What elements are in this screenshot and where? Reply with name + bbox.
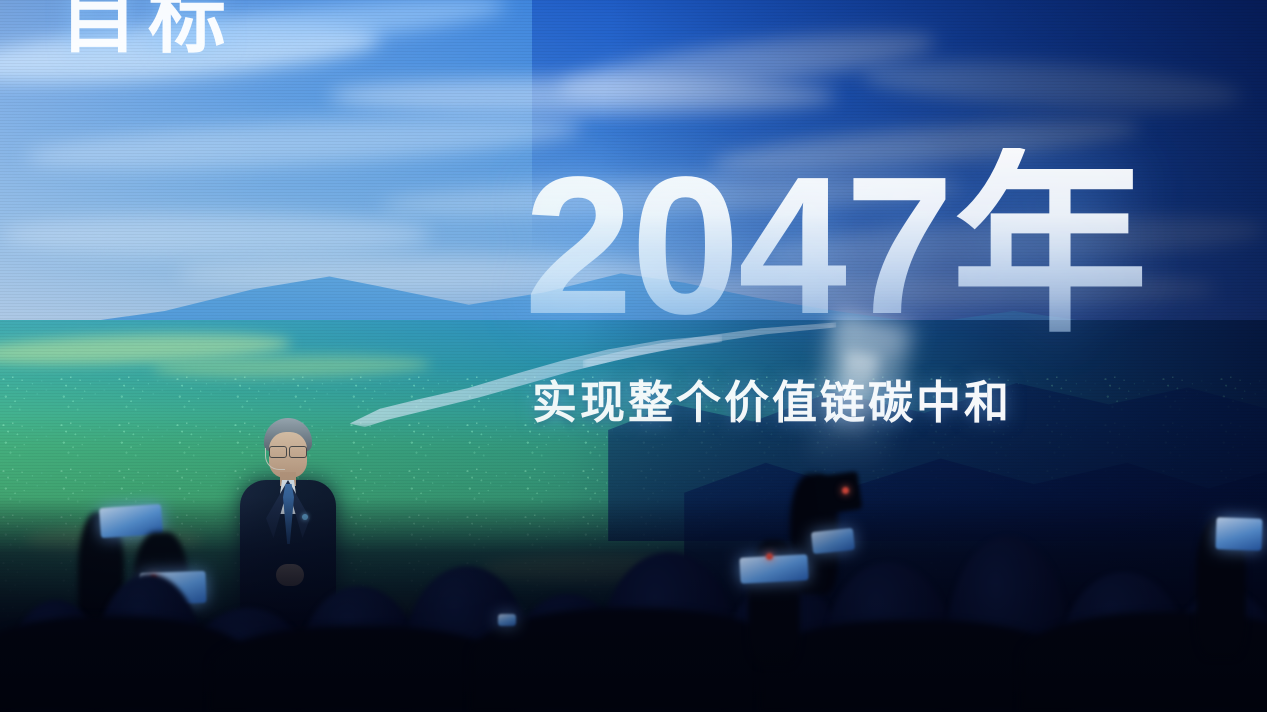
meadow-patch [481,555,709,583]
meadow-patch [25,527,202,555]
subtitle-text: 实现整个价值链碳中和 [532,380,1012,425]
speaker-figure [228,418,348,638]
headset-microphone-icon [265,448,285,470]
headline-partial-text: 目标 [60,0,236,68]
lapel-pin-icon [302,514,308,520]
speaker-clasped-hands [276,564,304,586]
cloud-band [0,214,431,257]
stage-photo: 目标 2047年 实现整个价值链碳中和 [0,0,1267,712]
led-wall-backdrop [0,0,1267,712]
year-headline: 2047年 [524,148,1146,344]
